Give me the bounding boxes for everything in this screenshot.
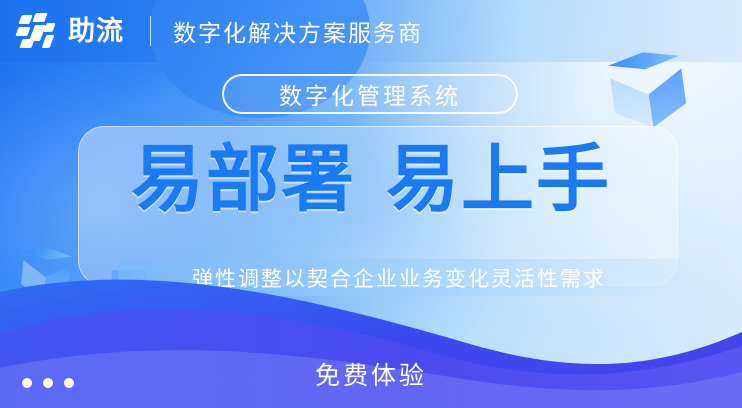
brand-slogan: 数字化解决方案服务商 (173, 14, 423, 48)
banner-header: 助流 数字化解决方案服务商 (0, 0, 742, 62)
system-badge-label: 数字化管理系统 (279, 77, 461, 111)
hero-headline-part1: 易部署 (131, 139, 356, 220)
cta-label: 免费体验 (315, 362, 427, 390)
carousel-dots[interactable] (22, 378, 74, 388)
hero-headline-part2: 易上手 (386, 139, 611, 220)
brand-name: 助流 (68, 18, 124, 45)
carousel-dot-1[interactable] (22, 378, 32, 388)
cta-free-trial[interactable]: 免费体验 (0, 356, 742, 392)
promo-banner: 助流 数字化解决方案服务商 数字化管理系统 易部署易上手 弹性调整以契合企业业务… (0, 0, 742, 408)
hero-headline: 易部署易上手 (0, 143, 742, 216)
system-badge: 数字化管理系统 (222, 74, 518, 114)
carousel-dot-3[interactable] (64, 378, 74, 388)
carousel-dot-2[interactable] (43, 378, 53, 388)
zhuliu-flow-mark-icon (16, 11, 62, 51)
header-divider (150, 16, 151, 46)
